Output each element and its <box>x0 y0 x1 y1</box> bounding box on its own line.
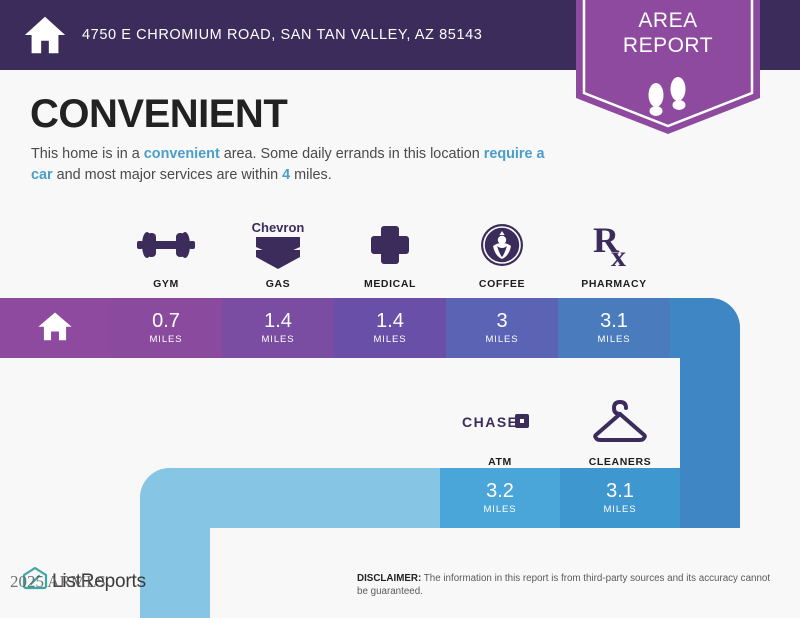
distance-unit: MILES <box>597 334 630 345</box>
rx-icon: R x <box>589 219 639 271</box>
home-icon <box>36 307 74 350</box>
distance-unit: MILES <box>603 504 636 515</box>
distance-unit: MILES <box>373 334 406 345</box>
distance-value: 1.4 <box>264 311 292 332</box>
distance-value: 1.4 <box>376 311 404 332</box>
bar-cell-gym: 0.7 MILES <box>110 298 222 358</box>
category-label: PHARMACY <box>581 278 646 290</box>
primary-distance-bar: 0.7 MILES 1.4 MILES 1.4 MILES 3 MILES 3.… <box>0 298 740 358</box>
badge-text: AREA REPORT <box>566 8 770 58</box>
secondary-icon-row: CHASE ATM CLEANERS <box>440 380 680 468</box>
bar-bottom-endcap <box>680 468 740 528</box>
category-label: CLEANERS <box>589 456 652 468</box>
badge-line-1: AREA <box>566 8 770 33</box>
path-elbow-left-mask <box>210 528 280 618</box>
distance-value: 0.7 <box>152 311 180 332</box>
dumbbell-icon <box>134 219 198 271</box>
medical-cross-icon <box>367 219 413 271</box>
subtitle-part-3: and most major services are within <box>53 167 283 183</box>
bar-cell-atm: 3.2 MILES <box>440 468 560 528</box>
distance-value: 3.1 <box>600 311 628 332</box>
starbucks-logo-icon <box>479 219 525 271</box>
svg-text:Chevron: Chevron <box>252 220 305 235</box>
bar-cell-cleaners: 3.1 MILES <box>560 468 680 528</box>
category-label: COFFEE <box>479 278 525 290</box>
bar-cell-gas: 1.4 MILES <box>222 298 334 358</box>
category-atm: CHASE ATM <box>440 380 560 468</box>
chase-logo-icon: CHASE <box>460 394 540 450</box>
subtitle-highlight-1: convenient <box>144 146 220 162</box>
svg-text:CHASE: CHASE <box>462 414 519 430</box>
home-icon <box>22 12 68 58</box>
bar-cell-endcap <box>670 298 740 358</box>
distance-value: 3.2 <box>486 481 514 502</box>
bar-cell-pharmacy: 3.1 MILES <box>558 298 670 358</box>
distance-unit: MILES <box>149 334 182 345</box>
bar-bottom-lead <box>140 468 440 528</box>
chevron-logo-icon: Chevron <box>248 219 308 271</box>
svg-text:x: x <box>611 240 626 270</box>
subtitle-part-4: miles. <box>290 167 332 183</box>
category-medical: MEDICAL <box>334 212 446 290</box>
page-subtitle: This home is in a convenient area. Some … <box>31 144 551 186</box>
badge-line-2: REPORT <box>566 33 770 58</box>
distance-unit: MILES <box>261 334 294 345</box>
bar-cell-medical: 1.4 MILES <box>334 298 446 358</box>
category-gas: Chevron GAS <box>222 212 334 290</box>
secondary-distance-bar: 3.2 MILES 3.1 MILES <box>140 468 740 528</box>
property-address: 4750 E CHROMIUM ROAD, SAN TAN VALLEY, AZ… <box>82 27 482 43</box>
hanger-icon <box>589 394 651 450</box>
category-pharmacy: R x PHARMACY <box>558 212 670 290</box>
page-title: CONVENIENT <box>30 92 287 137</box>
area-report-badge: AREA REPORT <box>566 0 770 140</box>
subtitle-part-1: This home is in a <box>31 146 144 162</box>
watermark: 2025 ARMLS <box>10 572 106 592</box>
category-cleaners: CLEANERS <box>560 380 680 468</box>
category-label: MEDICAL <box>364 278 416 290</box>
distance-value: 3.1 <box>606 481 634 502</box>
bar-home-cell <box>0 298 110 358</box>
disclaimer-label: DISCLAIMER: <box>357 573 421 584</box>
category-label: GYM <box>153 278 179 290</box>
bar-cell-coffee: 3 MILES <box>446 298 558 358</box>
category-gym: GYM <box>110 212 222 290</box>
distance-unit: MILES <box>485 334 518 345</box>
category-icon-row: GYM Chevron GAS MEDICAL <box>110 212 680 290</box>
distance-value: 3 <box>496 311 507 332</box>
subtitle-highlight-3: 4 <box>282 167 290 183</box>
subtitle-part-2: area. Some daily errands in this locatio… <box>220 146 484 162</box>
distance-unit: MILES <box>483 504 516 515</box>
category-label: GAS <box>266 278 291 290</box>
category-coffee: COFFEE <box>446 212 558 290</box>
category-label: ATM <box>488 456 512 468</box>
disclaimer: DISCLAIMER: The information in this repo… <box>357 572 777 598</box>
